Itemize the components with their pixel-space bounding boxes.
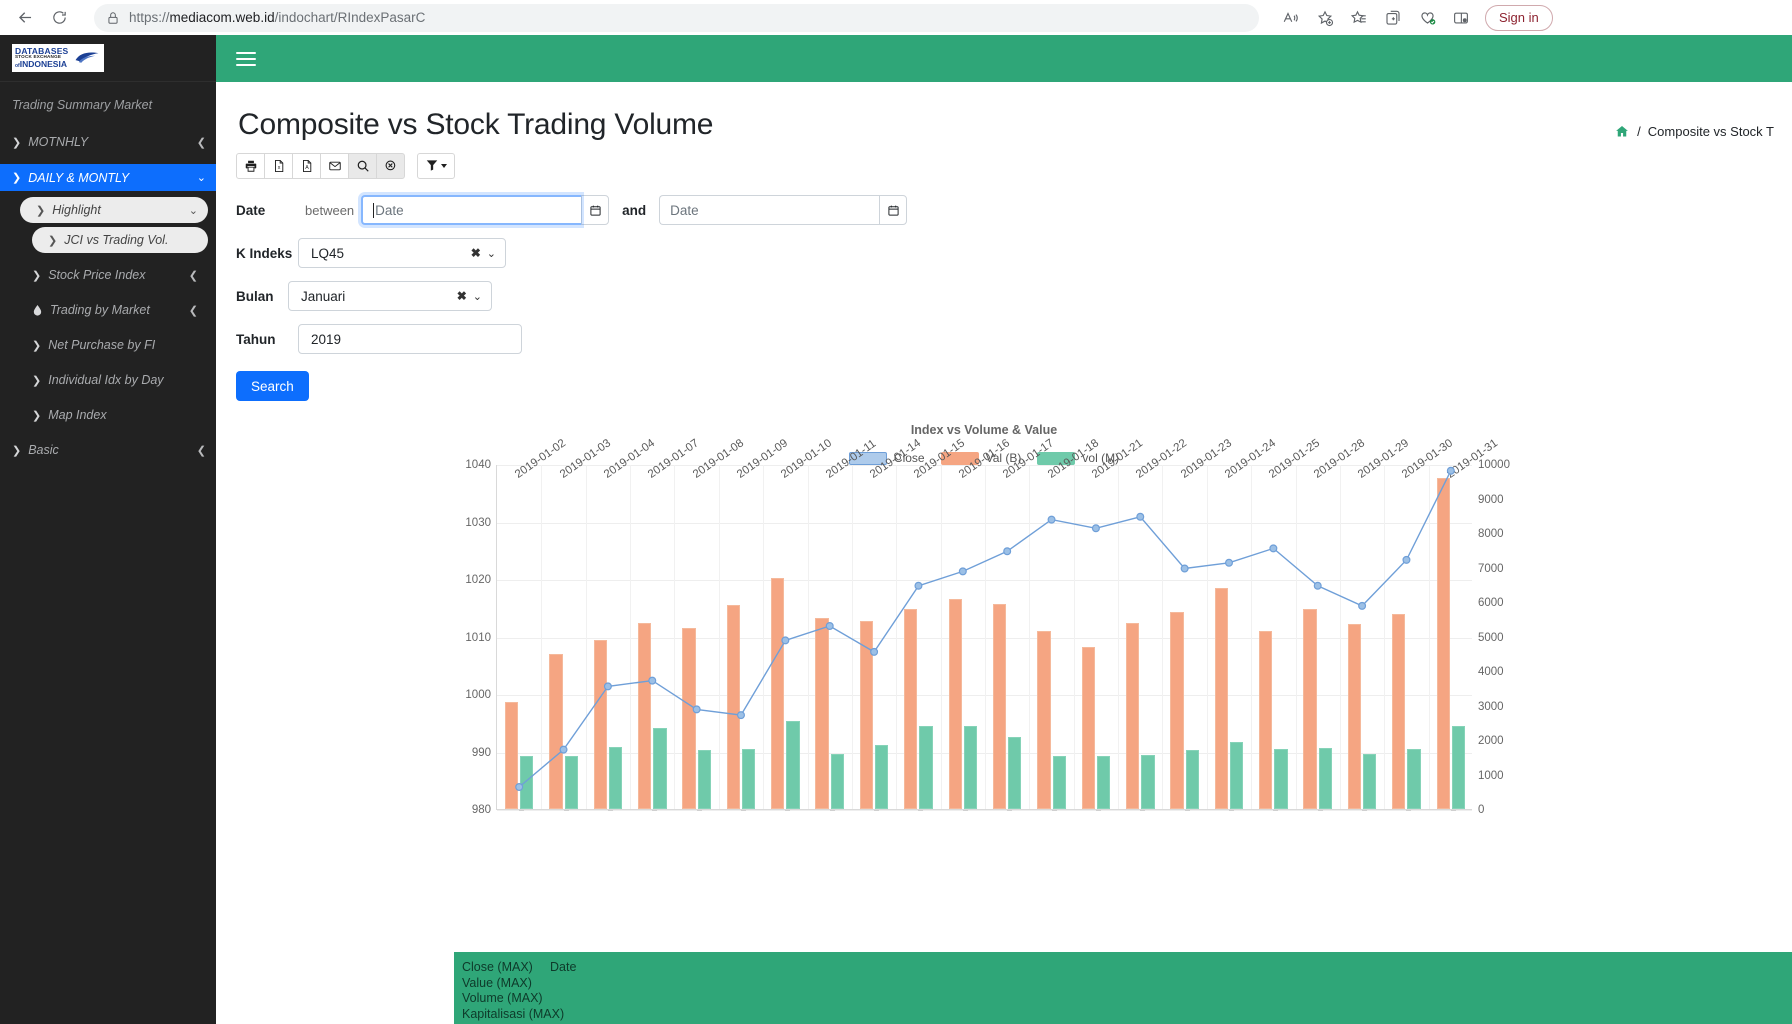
sidebar: DATABASES STOCK EXCHANGE ofINDONESIA Tra…: [0, 35, 216, 1024]
x-axis-tickmark: [963, 810, 968, 811]
y-axis-right-tick: 10000: [1478, 459, 1510, 471]
close-line-series: [497, 465, 1473, 810]
kindeks-value: LQ45: [311, 246, 465, 261]
x-axis-tickmark: [830, 810, 835, 811]
close-data-point[interactable]: [826, 623, 833, 630]
close-data-point[interactable]: [605, 683, 612, 690]
brand-logo: DATABASES STOCK EXCHANGE ofINDONESIA: [12, 44, 104, 72]
y-axis-left-tick: 1010: [465, 632, 491, 644]
x-axis-tickmark: [741, 810, 746, 811]
chart-plot-area: 9809901000101010201030104001000200030004…: [454, 465, 1514, 810]
address-bar-text: https://mediacom.web.id/indochart/RIndex…: [129, 10, 425, 25]
summary-table: Close (MAX)Value (MAX)Volume (MAX)Kapita…: [454, 952, 1792, 1024]
summary-row-value: [550, 991, 576, 1007]
y-axis-right-tick: 0: [1478, 804, 1484, 816]
url-scheme: https://: [129, 10, 170, 25]
breadcrumb: / Composite vs Stock T: [1614, 108, 1774, 139]
search-button[interactable]: Search: [236, 371, 309, 401]
address-bar[interactable]: https://mediacom.web.id/indochart/RIndex…: [94, 4, 1259, 32]
zoom-out-icon[interactable]: [376, 153, 405, 179]
page-title: Composite vs Stock Trading Volume: [238, 108, 713, 142]
excel-export-icon[interactable]: x: [264, 153, 293, 179]
chevron-right-icon: ❯: [32, 339, 41, 352]
kindeks-row: K Indeks LQ45 ✖ ⌄: [236, 238, 1792, 268]
x-axis-tickmark: [1451, 810, 1456, 811]
export-button-group: x A: [236, 153, 405, 179]
bulan-value: Januari: [301, 289, 451, 304]
kindeks-select[interactable]: LQ45 ✖ ⌄: [298, 238, 506, 268]
close-data-point[interactable]: [1314, 582, 1321, 589]
filter-button[interactable]: [417, 153, 455, 179]
sidebar-item-trading-by-market[interactable]: Trading by Market ❮: [20, 297, 216, 323]
close-data-point[interactable]: [560, 746, 567, 753]
chevron-right-icon: ❯: [32, 374, 41, 387]
droplet-icon: [32, 304, 43, 317]
sidebar-item-individual-idx-by-day[interactable]: ❯ Individual Idx by Day: [20, 367, 216, 393]
between-label: between: [305, 203, 354, 218]
zoom-in-icon[interactable]: [348, 153, 377, 179]
tahun-input[interactable]: 2019: [298, 324, 522, 354]
browser-toolbar: https://mediacom.web.id/indochart/RIndex…: [0, 0, 1792, 35]
sidebar-item-label: DAILY & MONTLY: [28, 171, 129, 185]
url-path: /indochart/RIndexPasarC: [275, 10, 426, 25]
read-aloud-icon[interactable]: [1275, 4, 1307, 32]
sidebar-item-map-index[interactable]: ❯ Map Index: [20, 402, 216, 428]
svg-text:x: x: [277, 165, 280, 171]
mediacom-mark-icon: [74, 50, 100, 64]
chevron-left-icon: ❮: [197, 136, 206, 149]
chevron-right-icon: ❯: [32, 269, 41, 282]
clear-icon[interactable]: ✖: [457, 289, 467, 303]
summary-row-value: [550, 1007, 576, 1023]
print-icon[interactable]: [236, 153, 265, 179]
logo-line-3: ofINDONESIA: [15, 60, 68, 69]
sidebar-logo[interactable]: DATABASES STOCK EXCHANGE ofINDONESIA: [0, 35, 216, 82]
sidebar-item-label: Map Index: [48, 408, 106, 422]
sidebar-item-label: Trading by Market: [50, 303, 150, 317]
x-axis-tickmark: [1140, 810, 1145, 811]
date-row: Date between Date and Date: [236, 195, 1792, 225]
summary-row-label: Value (MAX): [462, 976, 530, 992]
summary-column-labels: Close (MAX)Value (MAX)Volume (MAX)Kapita…: [462, 960, 550, 1022]
x-axis-tickmark: [564, 810, 569, 811]
x-axis-tickmark: [1273, 810, 1278, 811]
sidebar-item-motnhly[interactable]: ❯ MOTNHLY ❮: [0, 129, 216, 155]
gridline: [497, 810, 1472, 811]
close-data-point[interactable]: [959, 568, 966, 575]
main-area: Composite vs Stock Trading Volume / Comp…: [216, 35, 1792, 1024]
date-from-input[interactable]: Date: [361, 195, 581, 225]
chevron-down-icon[interactable]: ⌄: [473, 290, 482, 303]
clear-icon[interactable]: ✖: [471, 246, 481, 260]
report-toolbar: x A: [216, 142, 1792, 179]
date-label: Date: [236, 203, 298, 218]
summary-row-label: Close (MAX): [462, 960, 530, 976]
chevron-right-icon: ❯: [36, 204, 45, 217]
top-navbar: [216, 35, 1792, 82]
x-axis-tickmark: [1318, 810, 1323, 811]
chevron-left-icon: ❮: [189, 269, 198, 282]
email-icon[interactable]: [320, 153, 349, 179]
close-data-point[interactable]: [516, 784, 523, 791]
x-axis-tickmark: [1362, 810, 1367, 811]
date-to-group: Date: [659, 195, 907, 225]
and-label: and: [622, 203, 646, 218]
caret-down-icon: [441, 164, 447, 168]
chevron-right-icon: ❯: [12, 136, 21, 149]
close-data-point[interactable]: [1403, 556, 1410, 563]
summary-row-value: Date: [550, 960, 576, 976]
x-axis-tickmark: [1007, 810, 1012, 811]
breadcrumb-separator: /: [1637, 124, 1641, 139]
bulan-row: Bulan Januari ✖ ⌄: [236, 281, 1792, 311]
sidebar-section-label: Trading Summary Market: [0, 82, 216, 120]
chevron-left-icon: ❮: [197, 444, 206, 457]
close-data-point[interactable]: [1359, 602, 1366, 609]
home-icon[interactable]: [1614, 124, 1630, 139]
close-data-point[interactable]: [1447, 467, 1454, 474]
filter-icon: [425, 158, 439, 175]
sidebar-item-label: Highlight: [52, 203, 101, 217]
chevron-down-icon: ⌄: [189, 204, 198, 217]
page-header: Composite vs Stock Trading Volume / Comp…: [216, 82, 1792, 142]
hamburger-icon[interactable]: [236, 48, 256, 70]
kindeks-label: K Indeks: [236, 246, 298, 261]
close-data-point[interactable]: [915, 582, 922, 589]
y-axis-right-tick: 8000: [1478, 528, 1504, 540]
bulan-select[interactable]: Januari ✖ ⌄: [288, 281, 492, 311]
tahun-label: Tahun: [236, 332, 298, 347]
y-axis-right-tick: 4000: [1478, 666, 1504, 678]
sidebar-item-jci-vs-trading-vol[interactable]: ❯ JCI vs Trading Vol.: [32, 227, 208, 253]
sidebar-item-label: Individual Idx by Day: [48, 373, 163, 387]
chevron-right-icon: ❯: [32, 409, 41, 422]
x-axis-tickmark: [1052, 810, 1057, 811]
split-screen-icon[interactable]: [1445, 4, 1477, 32]
lock-icon: [106, 11, 120, 25]
close-data-point[interactable]: [871, 648, 878, 655]
sidebar-item-label: Stock Price Index: [48, 268, 145, 282]
close-data-point[interactable]: [1270, 545, 1277, 552]
sidebar-item-label: Net Purchase by FI: [48, 338, 155, 352]
x-axis-tickmark: [519, 810, 524, 811]
x-axis-tickmark: [874, 810, 879, 811]
x-axis-tickmark: [1229, 810, 1234, 811]
bulan-label: Bulan: [236, 289, 288, 304]
summary-row-value: [550, 976, 576, 992]
svg-text:A: A: [305, 165, 309, 171]
close-data-point[interactable]: [1181, 565, 1188, 572]
sidebar-item-stock-price-index[interactable]: ❯ Stock Price Index ❮: [20, 262, 216, 288]
summary-column-date: Date: [550, 960, 596, 1022]
app-shell: DATABASES STOCK EXCHANGE ofINDONESIA Tra…: [0, 35, 1792, 1024]
y-axis-left-tick: 1020: [465, 574, 491, 586]
close-data-point[interactable]: [1004, 548, 1011, 555]
close-data-point[interactable]: [1093, 525, 1100, 532]
sign-in-button[interactable]: Sign in: [1485, 5, 1553, 31]
chevron-right-icon: ❯: [12, 444, 21, 457]
x-axis-tickmark: [697, 810, 702, 811]
sidebar-item-label: Basic: [28, 443, 59, 457]
summary-row-label: Volume (MAX): [462, 991, 530, 1007]
chevron-left-icon: ❮: [189, 304, 198, 317]
chevron-down-icon: ⌄: [197, 171, 206, 184]
close-data-point[interactable]: [1048, 516, 1055, 523]
filter-form: Date between Date and Date: [216, 179, 1792, 401]
sidebar-item-basic[interactable]: ❯ Basic ❮: [0, 437, 216, 463]
y-axis-left-tick: 1000: [465, 689, 491, 701]
x-axis-tickmark: [652, 810, 657, 811]
y-axis-right-tick: 1000: [1478, 770, 1504, 782]
chart-plot: 9809901000101010201030104001000200030004…: [496, 465, 1472, 810]
browser-essentials-icon[interactable]: [1411, 4, 1443, 32]
date-to-placeholder: Date: [670, 203, 699, 218]
back-arrow-icon[interactable]: [10, 4, 40, 32]
sidebar-item-label: JCI vs Trading Vol.: [64, 233, 168, 247]
y-axis-left-tick: 980: [472, 804, 491, 816]
y-axis-right-tick: 6000: [1478, 597, 1504, 609]
date-from-group: Date: [361, 195, 609, 225]
x-axis-tickmark: [1406, 810, 1411, 811]
y-axis-left-tick: 1040: [465, 459, 491, 471]
y-axis-left-tick: 1030: [465, 517, 491, 529]
chart-title: Index vs Volume & Value: [454, 423, 1514, 437]
reload-icon[interactable]: [44, 4, 74, 32]
add-favorite-icon[interactable]: [1309, 4, 1341, 32]
close-data-point[interactable]: [782, 637, 789, 644]
close-data-point[interactable]: [1226, 559, 1233, 566]
chevron-right-icon: ❯: [48, 234, 57, 247]
sidebar-item-highlight[interactable]: ❯ Highlight ⌄: [20, 197, 208, 223]
x-axis-tickmark: [785, 810, 790, 811]
y-axis-right-tick: 9000: [1478, 494, 1504, 506]
page-content: Composite vs Stock Trading Volume / Comp…: [216, 82, 1792, 1024]
pdf-export-icon[interactable]: A: [292, 153, 321, 179]
close-data-point[interactable]: [693, 706, 700, 713]
y-axis-right-tick: 5000: [1478, 632, 1504, 644]
date-to-input[interactable]: Date: [659, 195, 879, 225]
y-axis-right-tick: 3000: [1478, 701, 1504, 713]
sidebar-item-label: MOTNHLY: [28, 135, 88, 149]
date-from-placeholder: Date: [375, 203, 404, 218]
favorites-icon[interactable]: [1343, 4, 1375, 32]
breadcrumb-current: Composite vs Stock T: [1648, 124, 1774, 139]
x-axis-tickmark: [608, 810, 613, 811]
close-data-point[interactable]: [649, 677, 656, 684]
x-axis-tickmark: [918, 810, 923, 811]
sidebar-item-net-purchase-by-fi[interactable]: ❯ Net Purchase by FI: [20, 332, 216, 358]
sidebar-item-daily-montly[interactable]: ❯ DAILY & MONTLY ⌄: [0, 164, 216, 191]
x-axis-tickmark: [1096, 810, 1101, 811]
browser-actions: Sign in: [1275, 4, 1553, 32]
chevron-right-icon: ❯: [12, 171, 21, 184]
chart-container: Index vs Volume & Value CloseVal (B)vol …: [216, 423, 1792, 810]
y-axis-right-tick: 7000: [1478, 563, 1504, 575]
x-axis-tickmark: [1185, 810, 1190, 811]
tahun-row: Tahun 2019: [236, 324, 1792, 354]
close-data-point[interactable]: [738, 712, 745, 719]
date-from-calendar-icon[interactable]: [581, 195, 609, 225]
close-data-point[interactable]: [1137, 513, 1144, 520]
date-to-calendar-icon[interactable]: [879, 195, 907, 225]
y-axis-right-tick: 2000: [1478, 735, 1504, 747]
summary-row-label: Kapitalisasi (MAX): [462, 1007, 530, 1023]
chevron-down-icon[interactable]: ⌄: [487, 247, 496, 260]
collections-icon[interactable]: [1377, 4, 1409, 32]
url-host: mediacom.web.id: [170, 10, 275, 25]
y-axis-left-tick: 990: [472, 747, 491, 759]
